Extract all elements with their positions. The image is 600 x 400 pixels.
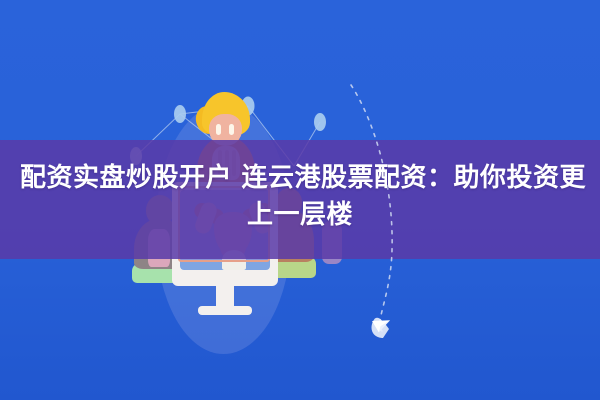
title-line-2: 上一层楼 [0, 197, 600, 234]
banner-image: 配资实盘炒股开户 连云港股票配资：助你投资更 上一层楼 [0, 0, 600, 400]
banner-title: 配资实盘炒股开户 连云港股票配资：助你投资更 上一层楼 [0, 160, 600, 234]
title-line-1: 配资实盘炒股开户 连云港股票配资：助你投资更 [0, 160, 600, 197]
